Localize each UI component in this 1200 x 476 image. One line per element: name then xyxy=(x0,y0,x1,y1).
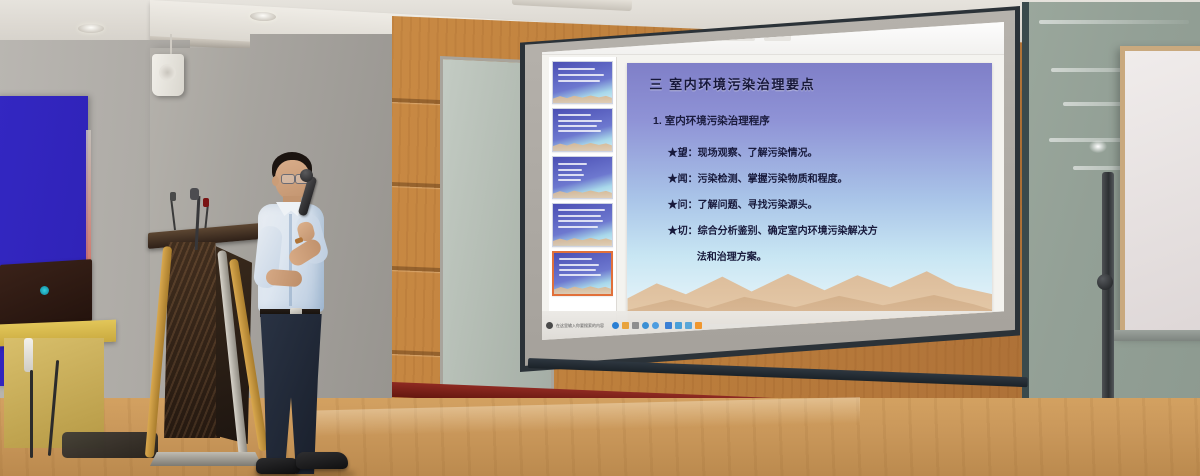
slide-bullet: ★闻：污染检测、掌握污染物质和程度。 xyxy=(668,170,848,185)
lectern xyxy=(148,228,264,476)
downlight-icon xyxy=(78,24,104,33)
projection-screen: 三 室内环境污染治理要点 1. 室内环境污染治理程序 ★望：现场观察、了解污染情… xyxy=(520,0,1040,380)
floor-equipment xyxy=(62,432,158,458)
slide-thumbnail[interactable] xyxy=(552,108,613,151)
eyeglasses-icon xyxy=(281,174,295,184)
lectern-base xyxy=(150,452,262,466)
presenter-left-forearm xyxy=(265,269,302,287)
wall-speaker-icon xyxy=(152,54,184,96)
store-icon[interactable] xyxy=(632,322,639,329)
slide-bullet: ★切：综合分析鉴别、确定室内环境污染解决方 xyxy=(668,222,878,237)
lectern-front-panel xyxy=(164,242,220,438)
speaker-cable xyxy=(170,34,172,56)
taskbar-search-input[interactable]: 在这里输入你要搜索的内容 xyxy=(556,323,604,329)
podium-microphone-head xyxy=(170,192,176,201)
podium-microphone-head xyxy=(203,198,209,207)
current-slide[interactable]: 三 室内环境污染治理要点 1. 室内环境污染治理程序 ★望：现场观察、了解污染情… xyxy=(627,63,992,324)
presenter-shoe xyxy=(296,452,348,469)
word-icon[interactable] xyxy=(665,322,672,329)
chrome-icon[interactable] xyxy=(652,322,659,329)
laptop-logo-icon xyxy=(40,286,49,295)
power-adapter xyxy=(24,338,33,372)
mic-stand-head xyxy=(190,188,199,200)
power-cable xyxy=(30,370,33,458)
wps-icon[interactable] xyxy=(695,322,702,329)
edge-icon[interactable] xyxy=(612,322,619,329)
light-reflection xyxy=(1089,140,1107,153)
slide-subtitle: 1. 室内环境污染治理程序 xyxy=(653,113,770,128)
mail-icon[interactable] xyxy=(642,322,649,329)
slide-bullet: 法和治理方案。 xyxy=(697,248,767,263)
explorer-icon[interactable] xyxy=(622,322,629,329)
presenter-trousers xyxy=(259,314,323,474)
slide-title: 三 室内环境污染治理要点 xyxy=(649,74,977,93)
slide-thumbnail[interactable] xyxy=(552,203,613,246)
projected-desktop: 三 室内环境污染治理要点 1. 室内环境污染治理程序 ★望：现场观察、了解污染情… xyxy=(542,22,1004,340)
slide-bullet: ★问：了解问题、寻找污染源头。 xyxy=(668,196,818,211)
excel-icon[interactable] xyxy=(675,322,682,329)
presenter-shoe xyxy=(256,458,300,474)
slide-thumbnail-selected[interactable] xyxy=(552,251,613,296)
whiteboard-marker-tray xyxy=(1112,330,1200,341)
presenter-ear xyxy=(272,176,279,186)
powerpoint-icon[interactable] xyxy=(685,322,692,329)
screen-roller-case xyxy=(512,0,632,11)
slide-thumbnail-panel[interactable] xyxy=(549,57,617,334)
mobile-whiteboard xyxy=(1120,46,1200,336)
lecture-hall-photo: 三 室内环境污染治理要点 1. 室内环境污染治理程序 ★望：现场观察、了解污染情… xyxy=(0,0,1200,476)
slide-thumbnail[interactable] xyxy=(552,156,613,199)
start-button[interactable] xyxy=(546,322,553,329)
whiteboard-adjust-knob[interactable] xyxy=(1097,274,1113,290)
slide-thumbnail[interactable] xyxy=(552,61,613,104)
presenter xyxy=(248,152,358,476)
slide-bullet: ★望：现场观察、了解污染情况。 xyxy=(668,144,818,159)
